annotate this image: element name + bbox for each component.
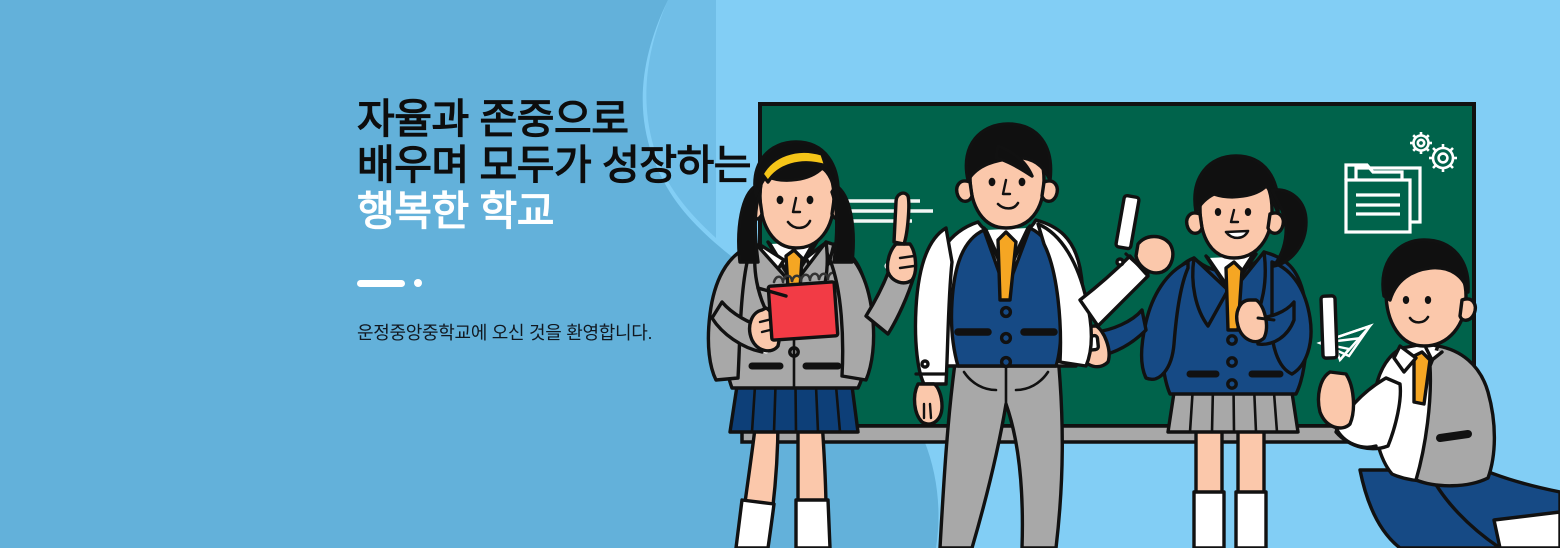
pony-button-3 bbox=[1228, 380, 1236, 388]
pony-button-1 bbox=[1228, 336, 1236, 344]
vest-button-1 bbox=[1002, 308, 1011, 317]
vest-button-3 bbox=[1002, 358, 1011, 367]
divider-bar bbox=[357, 280, 405, 287]
vest-ear-right bbox=[1042, 181, 1057, 201]
crouch-ear bbox=[1460, 299, 1475, 320]
school-hero-banner: 자율과 존중으로 배우며 모두가 성장하는 행복한 학교 운정중앙중학교에 오신… bbox=[0, 0, 1560, 548]
pony-eye-left bbox=[1215, 208, 1221, 216]
pony-sock-right bbox=[1236, 492, 1266, 548]
pony-button-2 bbox=[1228, 358, 1236, 366]
crouch-eye-right bbox=[1425, 296, 1431, 304]
np-eye-left bbox=[777, 196, 784, 204]
pony-sock-left bbox=[1194, 492, 1224, 548]
vest-hand-right bbox=[1136, 237, 1173, 273]
hero-subtitle: 운정중앙중학교에 오신 것을 환영합니다. bbox=[357, 319, 777, 345]
vest-hand-left bbox=[915, 384, 942, 424]
vest-ear-left bbox=[957, 181, 972, 201]
pony-eye-right bbox=[1245, 208, 1251, 216]
hero-copy: 자율과 존중으로 배우며 모두가 성장하는 행복한 학교 운정중앙중학교에 오신… bbox=[357, 96, 777, 345]
decorative-divider bbox=[357, 279, 777, 287]
crouch-shoe bbox=[1494, 512, 1560, 548]
pony-cuff-right bbox=[1258, 318, 1274, 320]
pony-mouth bbox=[1226, 231, 1248, 238]
divider-dot bbox=[414, 279, 422, 287]
heading-line-3: 행복한 학교 bbox=[357, 188, 777, 234]
crouch-vest-pocket bbox=[1440, 434, 1468, 438]
vest-cuff-button-right bbox=[1117, 259, 1123, 265]
pony-hand-right bbox=[1237, 300, 1267, 342]
pony-ear-left bbox=[1187, 213, 1202, 233]
np-index-finger bbox=[894, 193, 909, 244]
np-sock-right bbox=[796, 500, 830, 548]
vest-eye-left bbox=[989, 178, 996, 186]
crouch-hand bbox=[1318, 372, 1353, 428]
pony-ear-right bbox=[1268, 213, 1283, 233]
np-eye-right bbox=[807, 196, 814, 204]
crouch-eye-left bbox=[1403, 296, 1409, 304]
heading-line-1: 자율과 존중으로 bbox=[357, 96, 777, 142]
vest-eye-right bbox=[1019, 178, 1026, 186]
vest-button-2 bbox=[1002, 334, 1011, 343]
np-hand-right bbox=[887, 244, 915, 283]
crouch-chalk bbox=[1321, 296, 1337, 358]
heading-line-2: 배우며 모두가 성장하는 bbox=[357, 142, 777, 188]
vest-cuff-button-left bbox=[922, 361, 928, 367]
np-sock-left bbox=[736, 500, 774, 548]
hero-illustration bbox=[0, 0, 1560, 548]
